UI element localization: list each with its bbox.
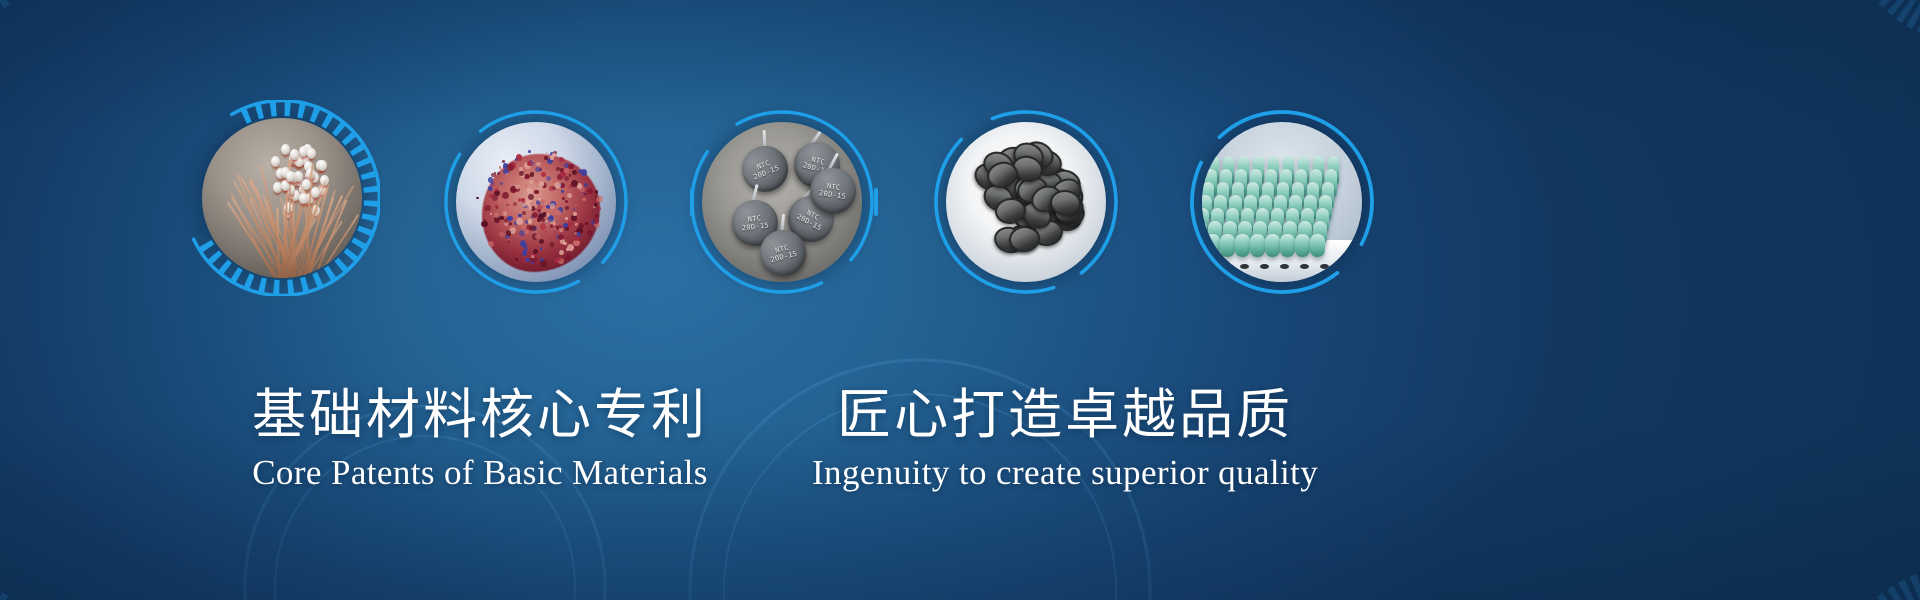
headline-block-right: 匠心打造卓越品质 Ingenuity to create superior qu… — [812, 385, 1318, 495]
medallion-red-ceramic-powder[interactable] — [438, 104, 634, 300]
background-vignette — [0, 0, 1920, 600]
medallion-row: NTC20D-15NTC20D-15NTC20D-15NTC20D-15NTC2… — [0, 100, 1920, 300]
headline-block-left: 基础材料核心专利 Core Patents of Basic Materials — [252, 385, 708, 495]
ring-broken-arcs-icon — [928, 104, 1124, 300]
headline-right-chinese: 匠心打造卓越品质 — [812, 385, 1318, 445]
medallion-green-coated-array[interactable] — [1184, 104, 1380, 300]
medallion-glass-bead-lead-wires[interactable] — [184, 100, 380, 296]
headline-left-english: Core Patents of Basic Materials — [252, 451, 708, 495]
ring-broken-arcs-icon — [1184, 104, 1380, 300]
ring-broken-arcs-icon — [438, 104, 634, 300]
ring-broken-arcs-ticks-icon — [684, 104, 880, 300]
medallion-black-ceramic-chips[interactable] — [928, 104, 1124, 300]
promo-banner: NTC20D-15NTC20D-15NTC20D-15NTC20D-15NTC2… — [0, 0, 1920, 600]
medallion-ntc-thermistor-discs[interactable]: NTC20D-15NTC20D-15NTC20D-15NTC20D-15NTC2… — [684, 104, 880, 300]
ring-segmented-dashes-icon — [184, 100, 380, 296]
headline-right-english: Ingenuity to create superior quality — [812, 451, 1318, 495]
headline-left-chinese: 基础材料核心专利 — [252, 385, 708, 445]
